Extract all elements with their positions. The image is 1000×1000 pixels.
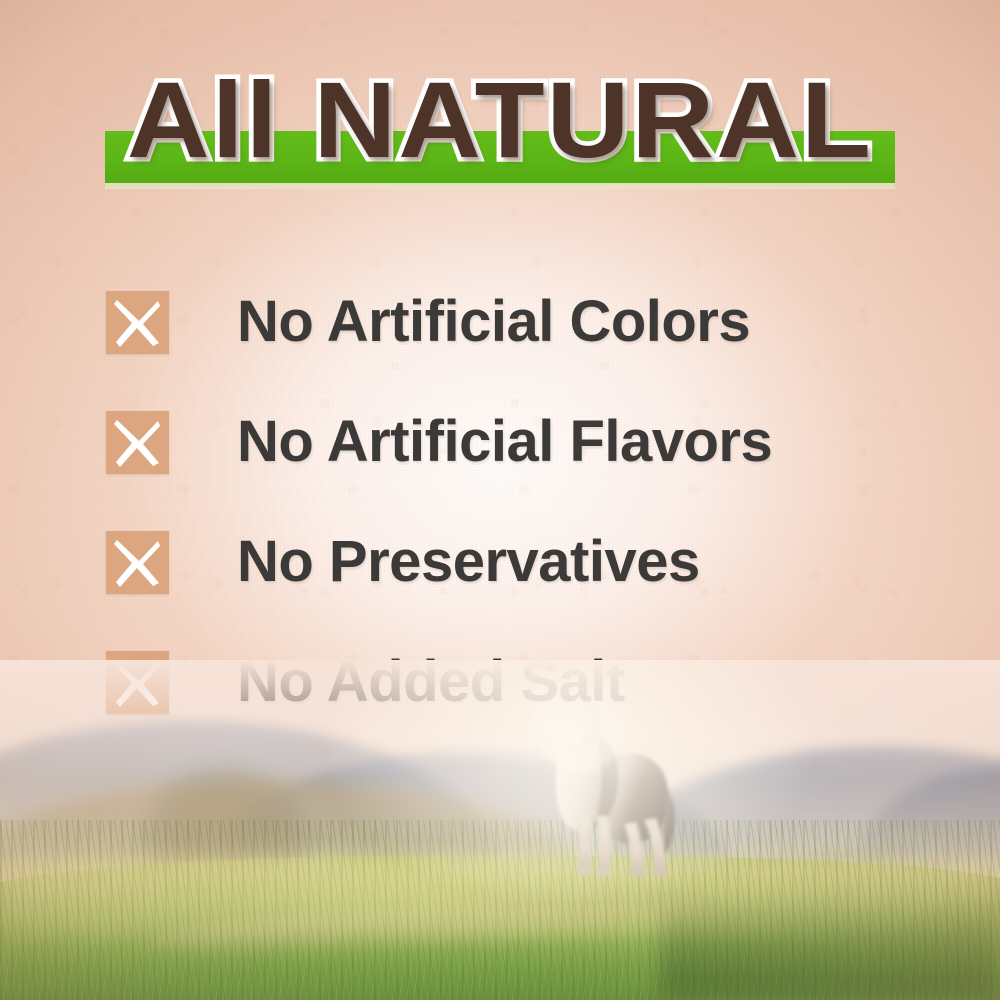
claim-label: No Artificial Colors: [237, 293, 750, 351]
x-mark-icon: [106, 291, 169, 354]
claim-label: No Preservatives: [237, 533, 700, 591]
headline-banner-underline: [105, 183, 895, 189]
list-item: No Artificial Colors: [106, 262, 926, 382]
photo-top-fade: [0, 660, 1000, 780]
all-natural-promo-graphic: All NATURAL No Artificial Colors No Arti…: [0, 0, 1000, 1000]
list-item: No Preservatives: [106, 502, 926, 622]
x-mark-icon: [106, 531, 169, 594]
claim-label: No Artificial Flavors: [237, 413, 772, 471]
x-mark-icon: [106, 411, 169, 474]
page-title: All NATURAL: [0, 66, 1000, 174]
list-item: No Artificial Flavors: [106, 382, 926, 502]
